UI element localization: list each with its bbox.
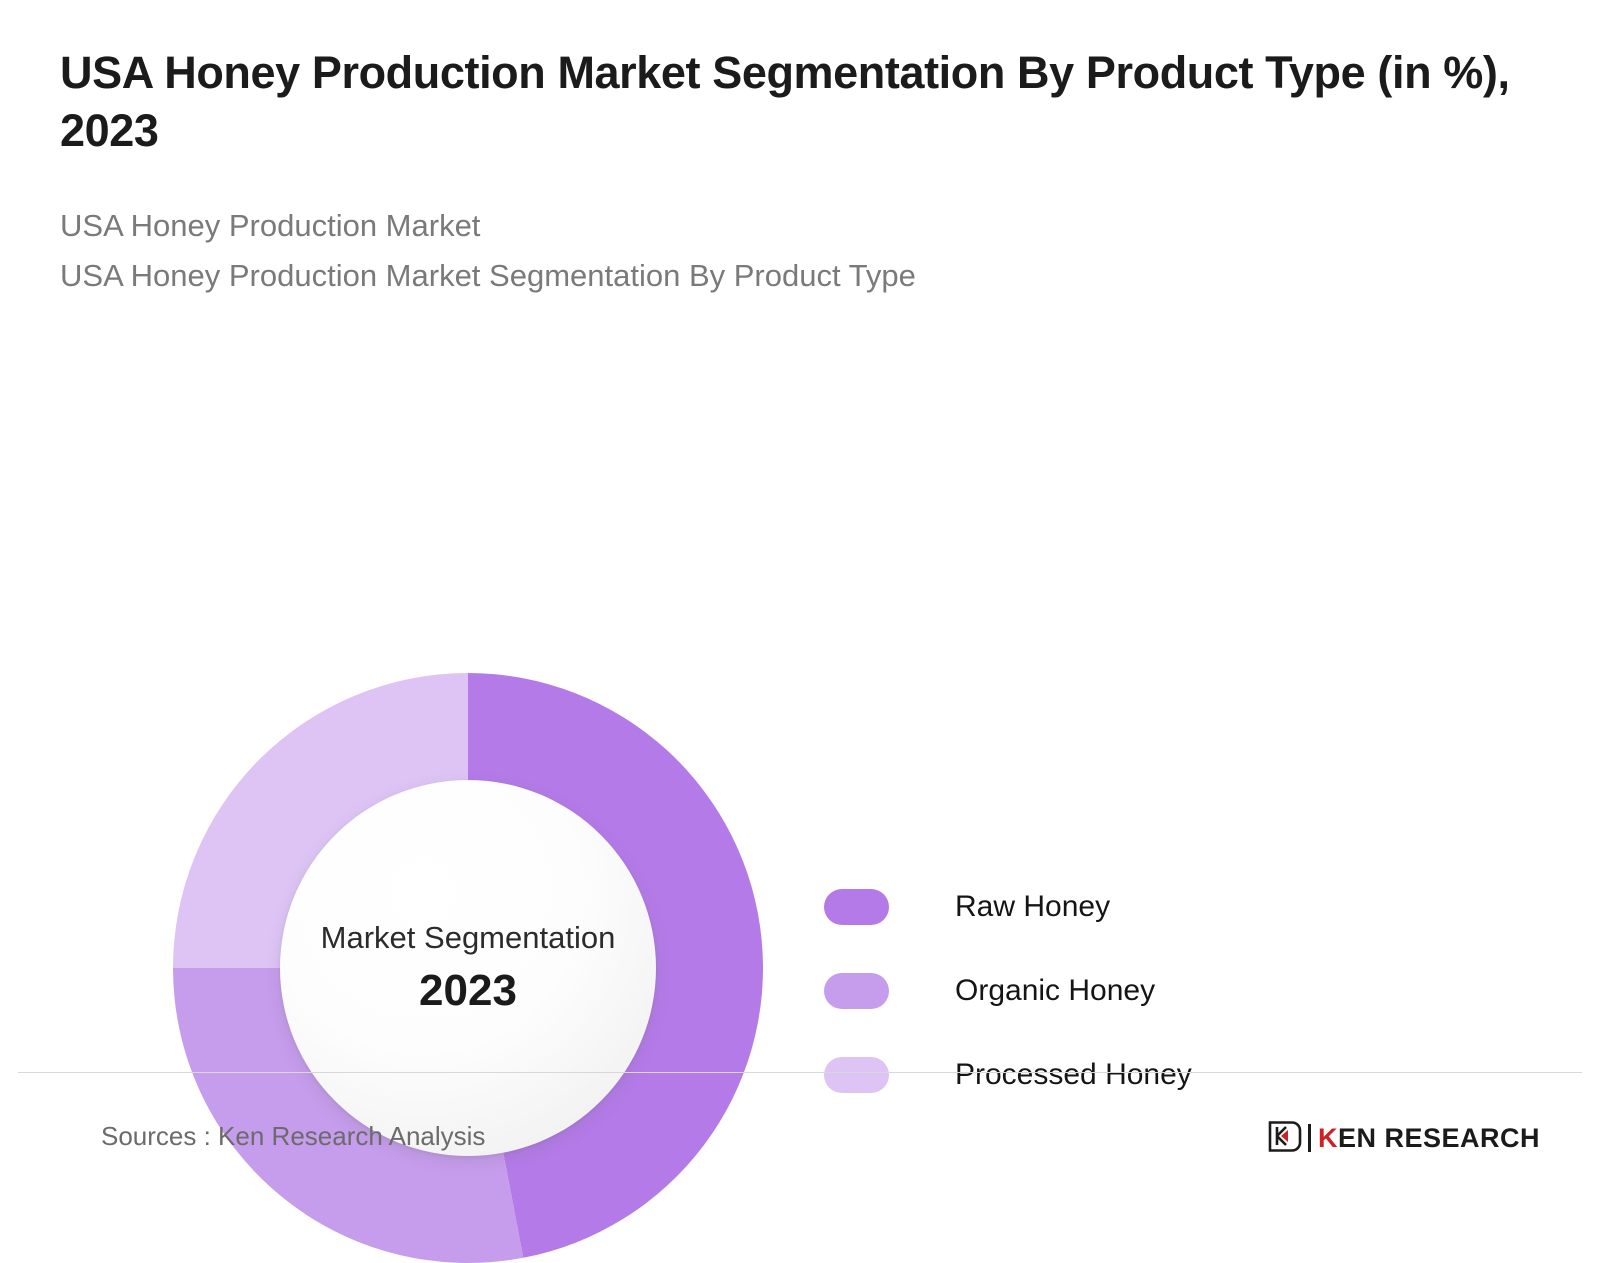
chart-page: USA Honey Production Market Segmentation… — [0, 0, 1600, 1200]
ken-k-shield-icon — [1268, 1121, 1302, 1155]
subtitle-block: USA Honey Production Market USA Honey Pr… — [60, 201, 1540, 300]
donut-center-year: 2023 — [419, 967, 517, 1015]
logo-divider — [1308, 1124, 1311, 1152]
legend-swatch — [824, 973, 889, 1009]
legend-item[interactable]: Organic Honey — [824, 949, 1192, 1033]
chart-body: Market Segmentation 2023 Raw HoneyOrgani… — [0, 300, 1600, 1200]
subtitle-line-segmentation: USA Honey Production Market Segmentation… — [60, 251, 1540, 301]
logo-wordmark-k: K — [1318, 1125, 1338, 1152]
footer-content: Sources : Ken Research Analysis KEN RESE… — [0, 1072, 1600, 1200]
subtitle-line-market: USA Honey Production Market — [60, 201, 1540, 251]
legend-item[interactable]: Raw Honey — [824, 865, 1192, 949]
chart-header: USA Honey Production Market Segmentation… — [0, 0, 1600, 300]
donut-center-title: Market Segmentation — [321, 921, 616, 955]
legend-label: Raw Honey — [955, 890, 1110, 924]
logo-wordmark: KEN RESEARCH — [1318, 1125, 1540, 1152]
chart-footer: Sources : Ken Research Analysis KEN RESE… — [0, 1072, 1600, 1200]
sources-text: Sources : Ken Research Analysis — [101, 1121, 485, 1152]
logo-wordmark-rest: EN RESEARCH — [1338, 1125, 1540, 1152]
legend-label: Organic Honey — [955, 974, 1155, 1008]
legend-swatch — [824, 889, 889, 925]
ken-research-logo: KEN RESEARCH — [1268, 1121, 1540, 1155]
page-title: USA Honey Production Market Segmentation… — [60, 44, 1540, 159]
